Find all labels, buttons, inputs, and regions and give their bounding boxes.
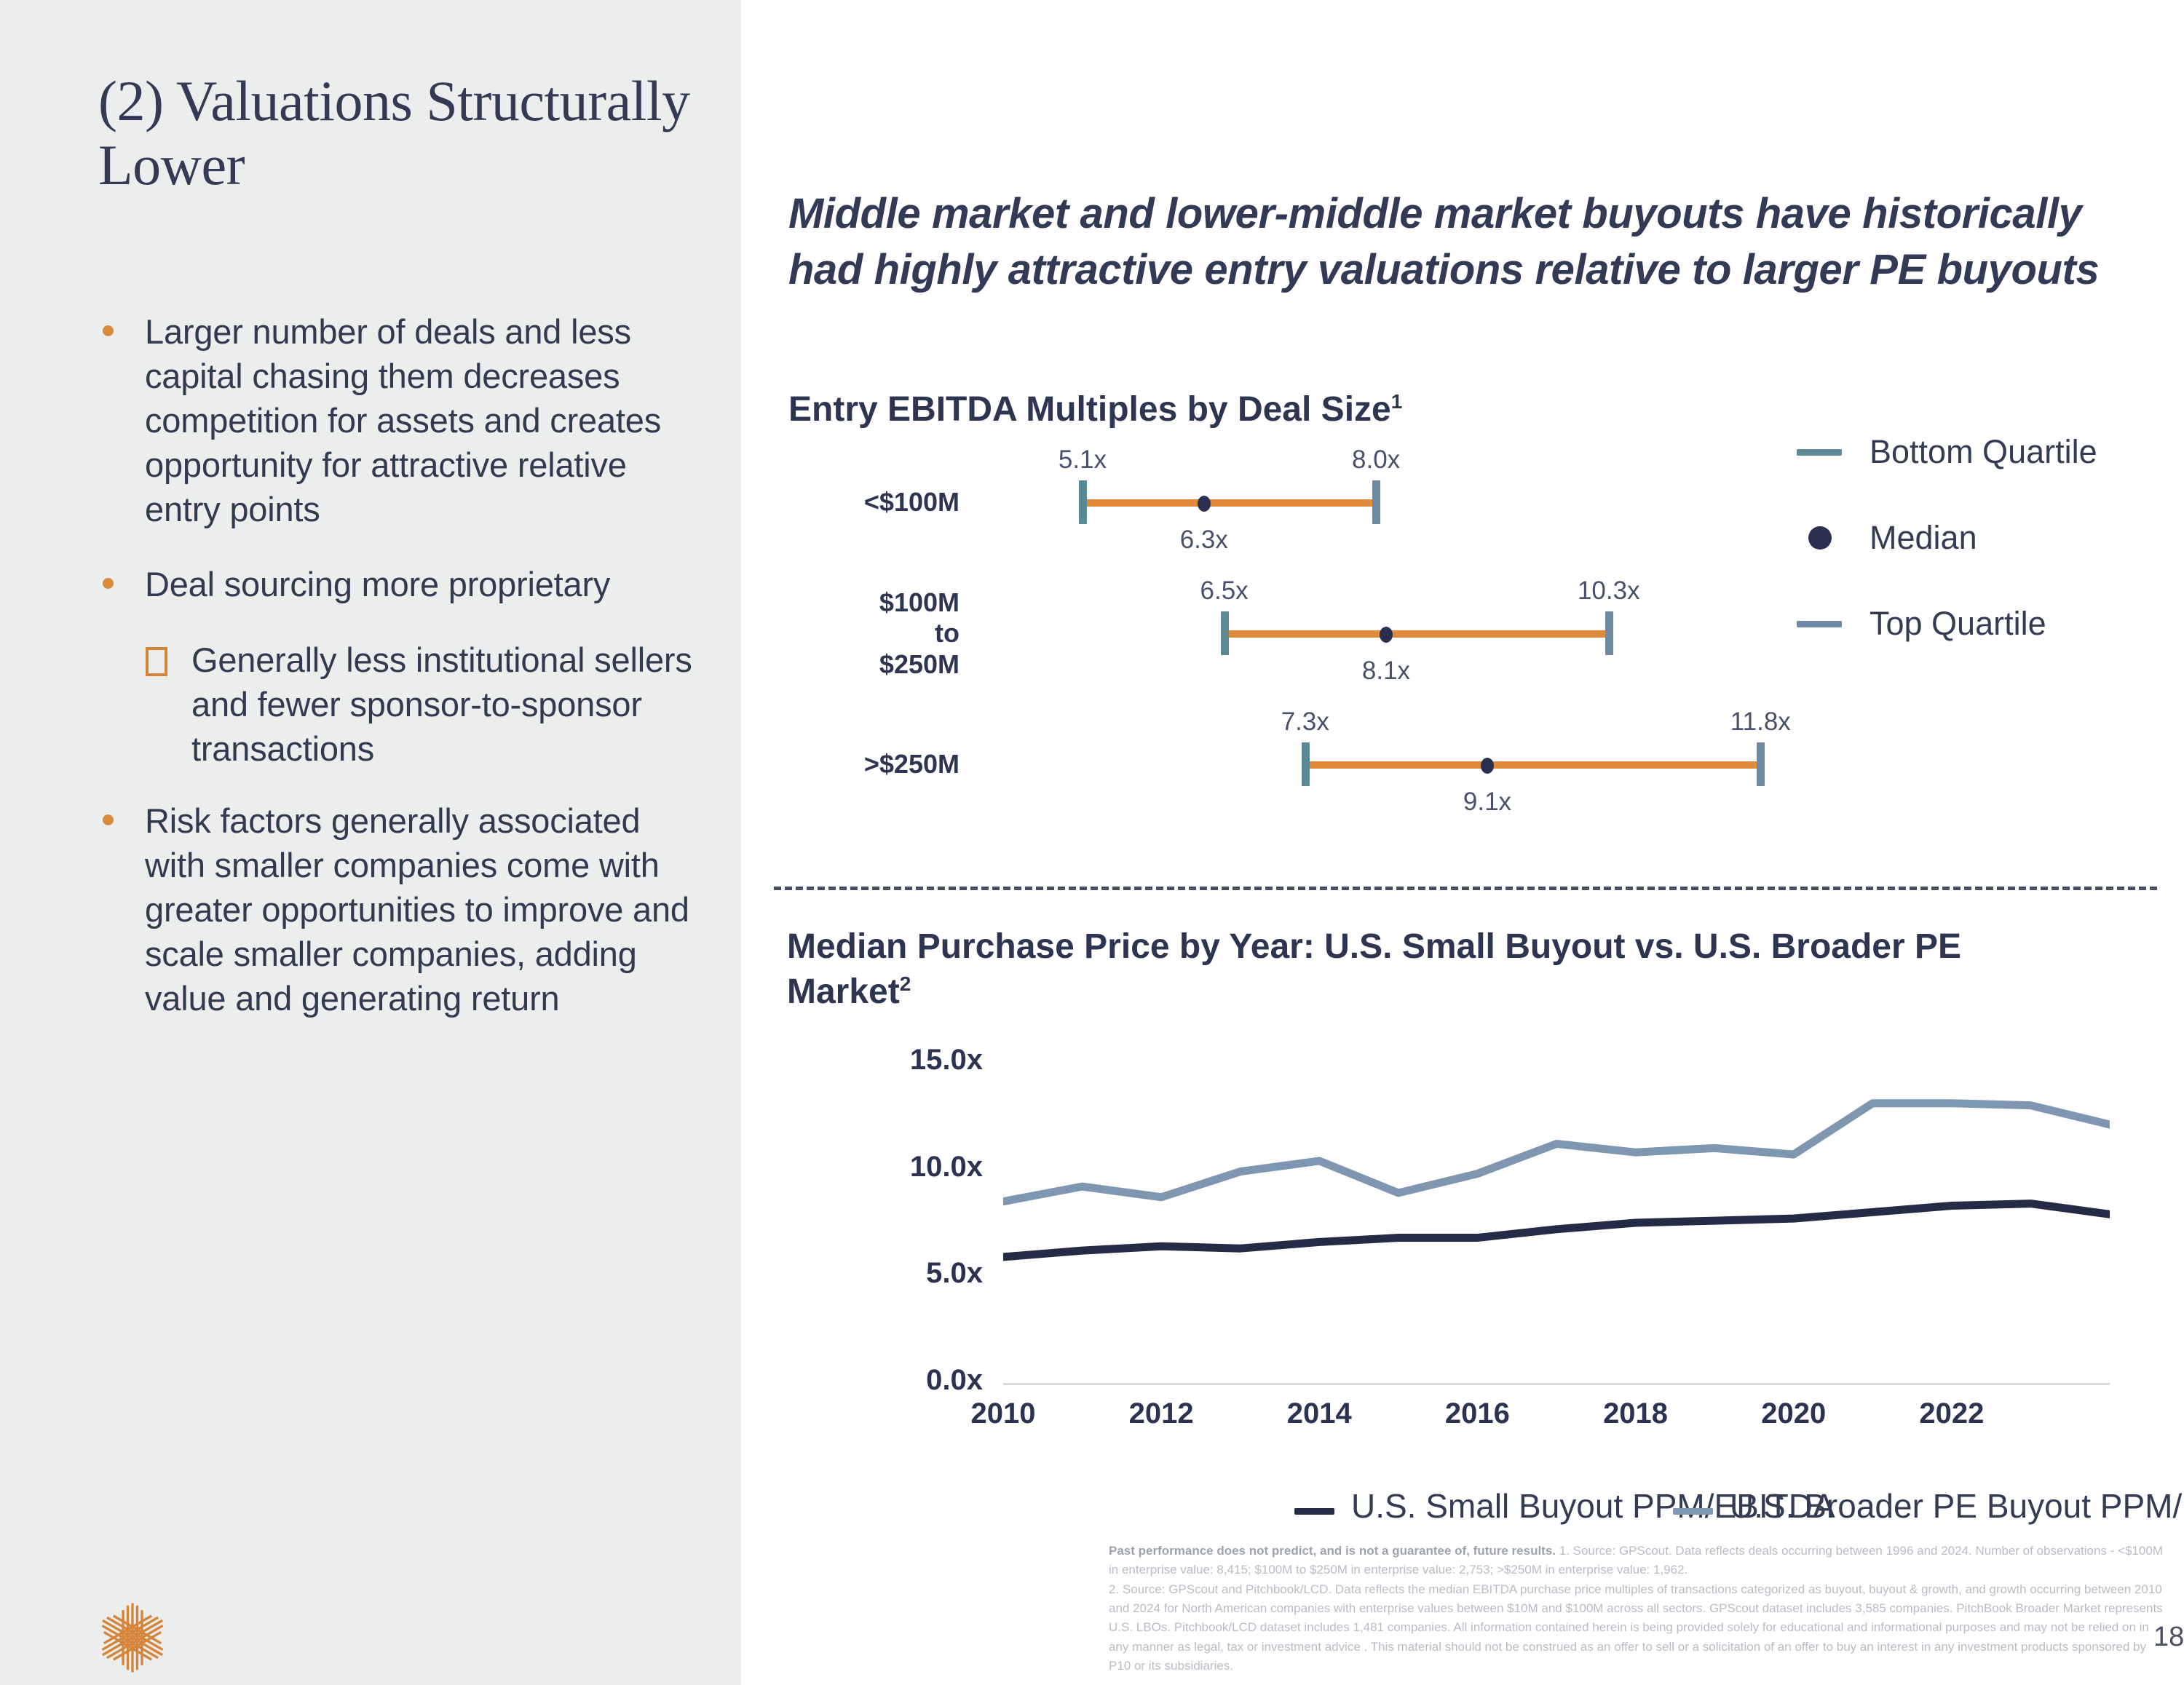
y-axis-tick: 5.0x: [801, 1257, 983, 1290]
range-row: <$100M5.1x8.0x6.3x: [741, 480, 2184, 524]
legend-label: Median: [1870, 519, 1977, 557]
footnote-disclaimer: Past performance does not predict, and i…: [1109, 1544, 1556, 1558]
bottom-quartile-marker: [1221, 611, 1229, 655]
bottom-quartile-marker: [1079, 480, 1087, 524]
chart-1-title-superscript: 1: [1391, 390, 1403, 413]
legend-line-icon-bottom-quartile: [1797, 449, 1842, 456]
range-row-label: <$100M: [770, 487, 960, 518]
range-row-label-line: $250M: [770, 649, 960, 680]
section-headline: Middle market and lower-middle market bu…: [788, 186, 2157, 298]
x-axis-tick: 2020: [1721, 1397, 1867, 1430]
range-row-label-line: to: [770, 618, 960, 649]
bullet-dot-icon: [103, 578, 114, 589]
x-axis-tick: 2018: [1563, 1397, 1709, 1430]
footnote-line-2: 2. Source: GPScout and Pitchbook/LCD. Da…: [1109, 1582, 2163, 1673]
chart-2-title: Median Purchase Price by Year: U.S. Smal…: [787, 924, 2061, 1015]
median-value-label: 9.1x: [1463, 788, 1511, 817]
median-value-label: 8.1x: [1362, 657, 1410, 686]
left-sidebar-panel: (2) Valuations Structurally Lower Larger…: [0, 0, 741, 1685]
bottom-quartile-value-label: 7.3x: [1281, 707, 1329, 737]
legend-line-icon-top-quartile: [1797, 621, 1842, 627]
range-bar-line: [1224, 630, 1609, 638]
y-axis-tick: 10.0x: [801, 1151, 983, 1184]
median-marker: [1380, 627, 1393, 643]
line-series-broader-pe: [1003, 1103, 2110, 1202]
top-quartile-marker: [1757, 742, 1765, 786]
legend-line-icon-small-buyout: [1294, 1508, 1334, 1515]
page-title: (2) Valuations Structurally Lower: [98, 69, 695, 197]
line-chart-svg: [1003, 1063, 2110, 1383]
chart-1-title-text: Entry EBITDA Multiples by Deal Size: [788, 390, 1391, 429]
p10-sunburst-logo-icon: [93, 1598, 172, 1677]
x-axis-tick: 2016: [1404, 1397, 1550, 1430]
range-row-label-line: $100M: [770, 587, 960, 618]
range-bar: 5.1x8.0x6.3x: [1083, 480, 1376, 524]
legend-label: Bottom Quartile: [1870, 433, 2097, 471]
bullet-dot-icon: [103, 814, 114, 825]
x-axis-tick: 2022: [1879, 1397, 2025, 1430]
bullet-list: Larger number of deals and less capital …: [98, 309, 703, 1051]
entry-ebitda-range-chart: <$100M5.1x8.0x6.3x$100Mto$250M6.5x10.3x8…: [741, 437, 2184, 859]
chart-2-title-text: Median Purchase Price by Year: U.S. Smal…: [787, 927, 1961, 1011]
bullet-item-1: Larger number of deals and less capital …: [98, 309, 703, 531]
bullet-text: Larger number of deals and less capital …: [145, 312, 661, 528]
page-number: 18: [2153, 1622, 2184, 1653]
median-purchase-price-line-chart: 0.0x5.0x10.0x15.0x2010201220142016201820…: [741, 1041, 2184, 1492]
line-series-small-buyout: [1003, 1204, 2110, 1257]
x-axis-tick: 2012: [1088, 1397, 1234, 1430]
y-axis-tick: 15.0x: [801, 1044, 983, 1077]
bullet-item-2: Deal sourcing more proprietary: [98, 562, 703, 606]
main-content-panel: Middle market and lower-middle market bu…: [741, 0, 2184, 1685]
median-value-label: 6.3x: [1180, 526, 1228, 555]
bottom-quartile-value-label: 5.1x: [1059, 445, 1107, 475]
line-chart-plot-area: [1003, 1063, 2110, 1383]
range-row: >$250M7.3x11.8x9.1x: [741, 742, 2184, 786]
range-bar-line: [1083, 499, 1376, 507]
range-row-label: >$250M: [770, 749, 960, 780]
legend-line-icon-broader-pe: [1673, 1508, 1713, 1515]
range-row-label: $100Mto$250M: [770, 587, 960, 680]
sub-bullet-text: Generally less institutional sellers and…: [191, 641, 692, 768]
sub-bullet-item: Generally less institutional sellers and…: [145, 638, 703, 771]
x-axis-tick: 2014: [1246, 1397, 1392, 1430]
section-divider: [774, 887, 2157, 890]
median-marker: [1481, 758, 1494, 774]
top-quartile-value-label: 10.3x: [1578, 576, 1640, 606]
range-bar: 7.3x11.8x9.1x: [1305, 742, 1761, 786]
range-bar: 6.5x10.3x8.1x: [1224, 611, 1609, 655]
legend-dot-icon-median: [1808, 526, 1832, 550]
bottom-quartile-marker: [1302, 742, 1310, 786]
top-quartile-marker: [1605, 611, 1613, 655]
legend-label: Top Quartile: [1870, 605, 2046, 643]
footnote-block: Past performance does not predict, and i…: [1109, 1542, 2164, 1676]
top-quartile-value-label: 8.0x: [1352, 445, 1400, 475]
bullet-text: Deal sourcing more proprietary: [145, 565, 610, 603]
median-marker: [1198, 496, 1211, 512]
legend-label: U.S. Broader PE Buyout PPM/EBITDA: [1730, 1486, 2184, 1526]
x-axis-line: [1003, 1383, 2110, 1385]
square-bullet-icon: [146, 647, 167, 676]
y-axis-tick: 0.0x: [801, 1364, 983, 1397]
bullet-item-3: Risk factors generally associated with s…: [98, 798, 703, 1020]
range-row-label-line: >$250M: [770, 749, 960, 780]
chart-1-title: Entry EBITDA Multiples by Deal Size1: [788, 389, 1402, 429]
range-bar-line: [1305, 761, 1761, 769]
range-row-label-line: <$100M: [770, 487, 960, 518]
bottom-quartile-value-label: 6.5x: [1200, 576, 1249, 606]
bullet-text: Risk factors generally associated with s…: [145, 801, 689, 1018]
top-quartile-marker: [1372, 480, 1380, 524]
x-axis-tick: 2010: [930, 1397, 1076, 1430]
chart-2-title-superscript: 2: [900, 972, 911, 995]
bullet-dot-icon: [103, 325, 114, 336]
top-quartile-value-label: 11.8x: [1730, 707, 1791, 737]
